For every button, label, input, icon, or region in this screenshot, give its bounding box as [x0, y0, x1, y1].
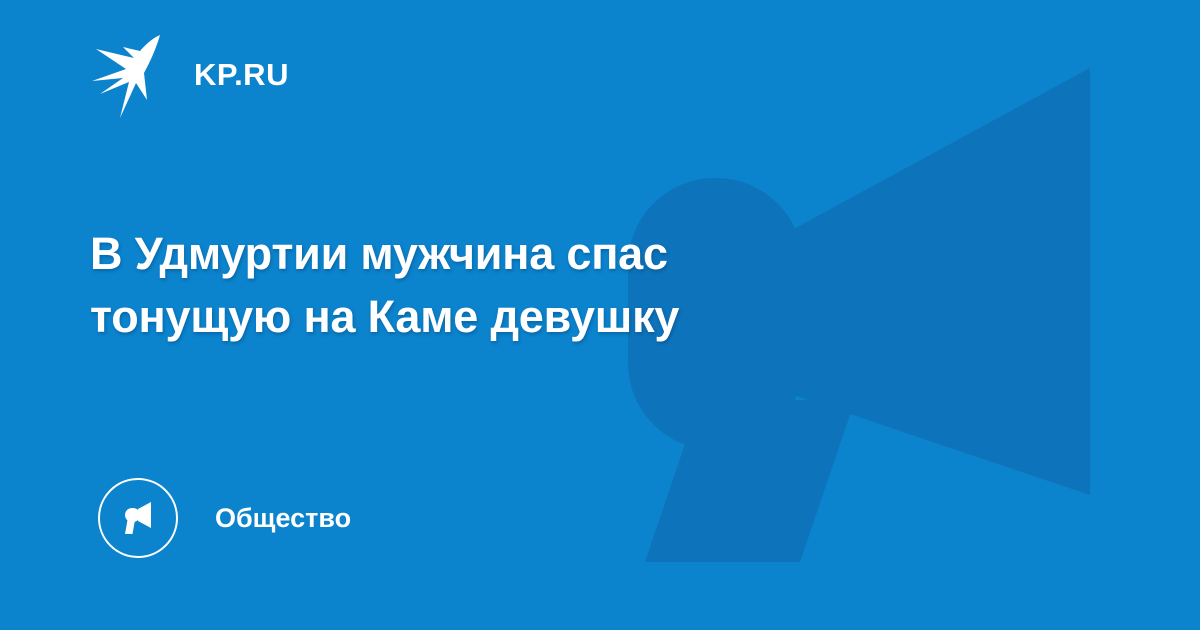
category-icon-circle [98, 478, 178, 558]
share-card: KP.RU В Удмуртии мужчина спас тонущую на… [0, 0, 1200, 630]
swallow-bird-icon [90, 32, 168, 118]
site-header: KP.RU [90, 32, 289, 118]
category-badge[interactable]: Общество [98, 478, 351, 558]
category-label: Общество [215, 505, 351, 532]
page-title-line-2: тонущую на Каме девушку [90, 285, 890, 348]
page-title-line-1: В Удмуртии мужчина спас [90, 222, 890, 285]
megaphone-icon [116, 496, 160, 540]
site-wordmark: KP.RU [194, 59, 289, 92]
page-title: В Удмуртии мужчина спас тонущую на Каме … [90, 222, 890, 348]
